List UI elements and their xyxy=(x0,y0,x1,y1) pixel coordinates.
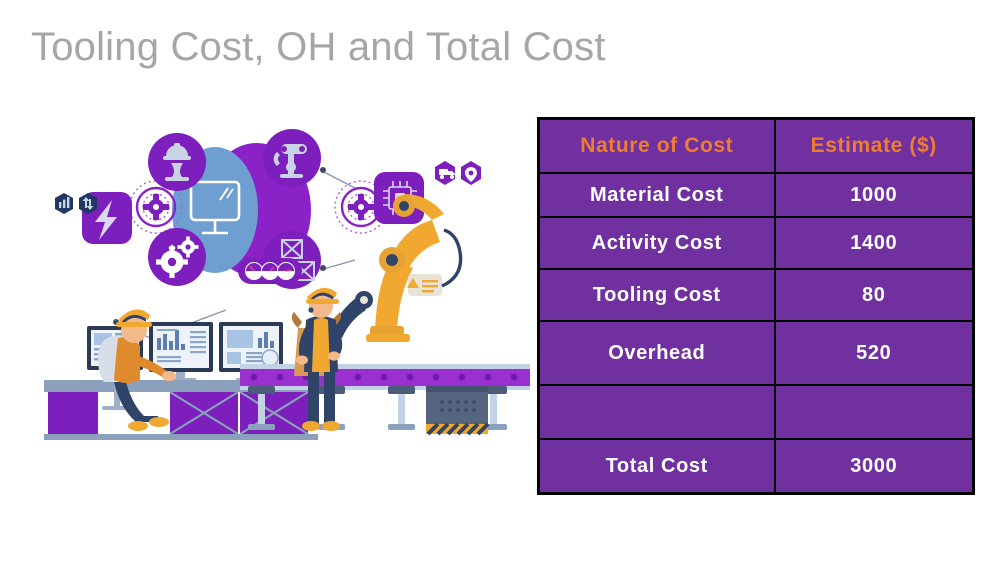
cell-nature: Activity Cost xyxy=(539,217,775,269)
gauge-cluster-icon xyxy=(245,262,295,280)
table-header-row: Nature of Cost Estimate ($) xyxy=(539,119,974,174)
cell-nature: Overhead xyxy=(539,321,775,385)
table-row-activity-cost: Activity Cost 1400 xyxy=(539,217,974,269)
cell-nature xyxy=(539,385,775,439)
cell-estimate: 3000 xyxy=(775,439,974,494)
table-row-tooling-cost: Tooling Cost 80 xyxy=(539,269,974,321)
shoe-2 xyxy=(128,421,148,431)
desk-panel-1 xyxy=(48,392,98,434)
gears-node xyxy=(148,228,206,286)
worker-helmet-node xyxy=(148,133,206,191)
cell-estimate: 1400 xyxy=(775,217,974,269)
page-title: Tooling Cost, OH and Total Cost xyxy=(31,24,606,70)
table-row-overhead: Overhead 520 xyxy=(539,321,974,385)
cell-estimate: 80 xyxy=(775,269,974,321)
cell-estimate: 520 xyxy=(775,321,974,385)
truck-badge xyxy=(435,161,455,185)
industry-automation-graphic xyxy=(30,110,530,450)
robot-base-machine xyxy=(426,386,488,434)
table-row-total-cost: Total Cost 3000 xyxy=(539,439,974,494)
location-badge xyxy=(461,161,481,185)
cell-estimate: 1000 xyxy=(775,173,974,217)
gauges-node xyxy=(238,258,302,284)
table-row-blank xyxy=(539,385,974,439)
cell-nature: Total Cost xyxy=(539,439,775,494)
cell-estimate xyxy=(775,385,974,439)
table-row-material-cost: Material Cost 1000 xyxy=(539,173,974,217)
cell-nature: Tooling Cost xyxy=(539,269,775,321)
column-header-nature-of-cost: Nature of Cost xyxy=(539,119,775,174)
chart-badge xyxy=(55,193,73,214)
shoe-1 xyxy=(149,417,169,427)
desk-base xyxy=(44,434,318,440)
robot-arm-node xyxy=(263,129,321,187)
cost-estimate-table: Nature of Cost Estimate ($) Material Cos… xyxy=(537,117,975,495)
column-header-estimate: Estimate ($) xyxy=(775,119,974,174)
cell-nature: Material Cost xyxy=(539,173,775,217)
